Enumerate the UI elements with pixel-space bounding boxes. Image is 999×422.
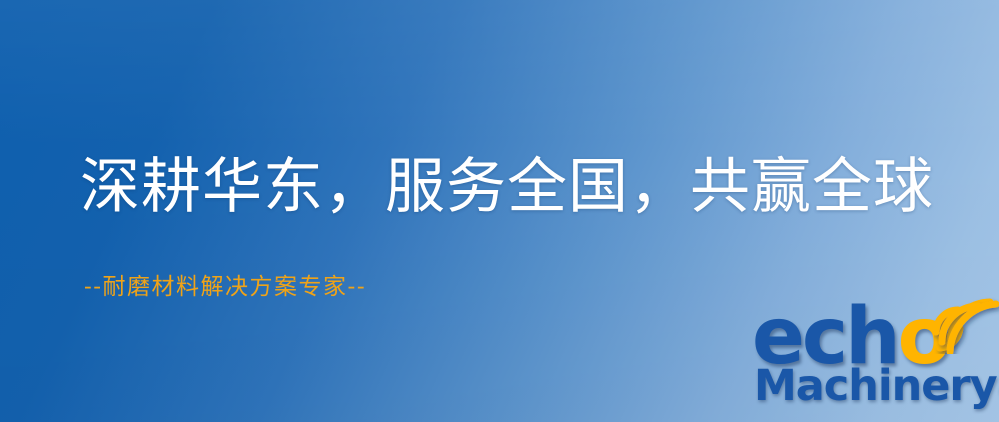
logo-machinery-text: Machinery (754, 361, 997, 411)
echo-machinery-logo[interactable]: echo Mach (748, 296, 999, 422)
banner-subtitle: --耐磨材料解决方案专家-- (84, 267, 366, 301)
logo-company-name: Machinery® (754, 364, 999, 412)
hero-banner: 深耕华东，服务全国，共赢全球 --耐磨材料解决方案专家-- echo (0, 0, 999, 422)
banner-headline: 深耕华东，服务全国，共赢全球 (80, 155, 934, 220)
signal-arcs-icon (934, 292, 999, 354)
